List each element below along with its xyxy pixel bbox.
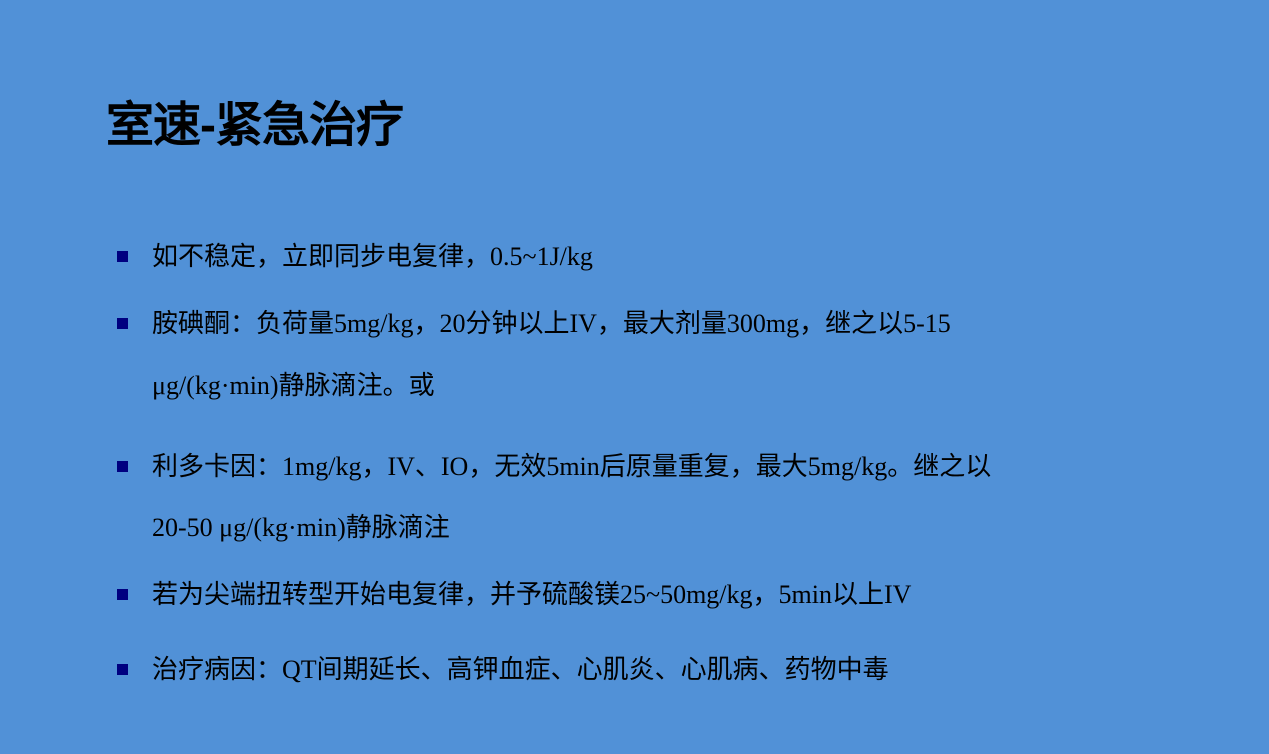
square-bullet-icon (117, 251, 128, 262)
bullet-item: 如不稳定，立即同步电复律，0.5~1J/kg (0, 222, 1269, 290)
bullet-text-continuation: 20-50 μg/(kg·min)静脉滴注 (152, 483, 1209, 544)
square-bullet-icon (117, 318, 128, 329)
bullet-item: 若为尖端扭转型开始电复律，并予硫酸镁25~50mg/kg，5min以上IV (0, 562, 1269, 637)
bullet-item: 利多卡因：1mg/kg，IV、IO，无效5min后原量重复，最大5mg/kg。继… (0, 432, 1269, 562)
presentation-slide: 室速-紧急治疗 如不稳定，立即同步电复律，0.5~1J/kg 胺碘酮：负荷量5m… (0, 0, 1269, 754)
square-bullet-icon (117, 461, 128, 472)
bullet-text: 利多卡因：1mg/kg，IV、IO，无效5min后原量重复，最大5mg/kg。继… (152, 432, 1209, 483)
bullet-item: 治疗病因：QT间期延长、高钾血症、心肌炎、心肌病、药物中毒 (0, 637, 1269, 697)
slide-title: 室速-紧急治疗 (106, 100, 403, 152)
bullet-text: 若为尖端扭转型开始电复律，并予硫酸镁25~50mg/kg，5min以上IV (152, 562, 1209, 611)
bullet-text: 胺碘酮：负荷量5mg/kg，20分钟以上IV，最大剂量300mg，继之以5-15 (152, 290, 1209, 340)
bullet-text-continuation: μg/(kg·min)静脉滴注。或 (152, 340, 1209, 402)
slide-body-content: 如不稳定，立即同步电复律，0.5~1J/kg 胺碘酮：负荷量5mg/kg，20分… (0, 222, 1269, 697)
square-bullet-icon (117, 664, 128, 675)
bullet-text: 治疗病因：QT间期延长、高钾血症、心肌炎、心肌病、药物中毒 (152, 637, 1209, 686)
square-bullet-icon (117, 589, 128, 600)
bullet-item: 胺碘酮：负荷量5mg/kg，20分钟以上IV，最大剂量300mg，继之以5-15… (0, 290, 1269, 432)
bullet-text: 如不稳定，立即同步电复律，0.5~1J/kg (152, 222, 1209, 273)
